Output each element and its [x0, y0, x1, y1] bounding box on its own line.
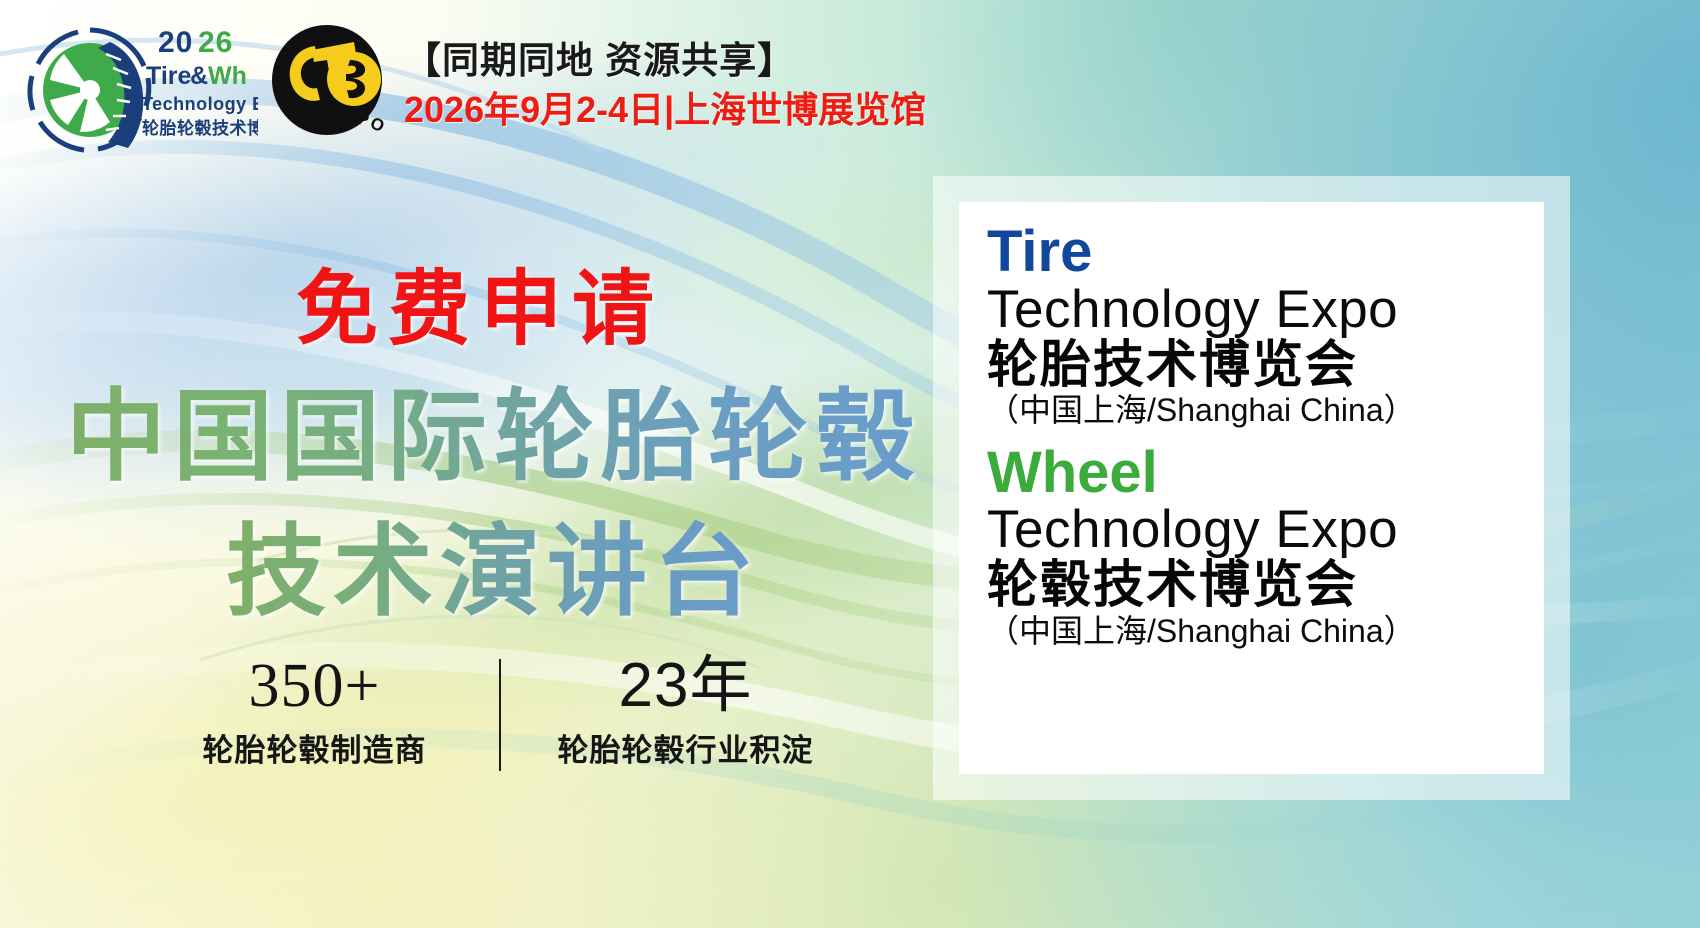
stat-number: 350+: [130, 655, 499, 717]
tire-technology-expo-text: Technology Expo: [987, 283, 1526, 337]
banner-header: 20 26 Tire & Wh Technology Expo 轮胎轮毂技术博览…: [0, 0, 1700, 175]
header-date-venue: 2026年9月2-4日|上海世博展览馆: [404, 88, 926, 131]
svg-text:20: 20: [158, 26, 193, 59]
cte-expo-logo: E X P O: [268, 24, 386, 142]
free-apply-eyebrow: 免费申请: [296, 242, 664, 361]
svg-text:O: O: [367, 113, 386, 136]
statistics-row: 350+ 轮胎轮毂制造商 23年 轮胎轮毂行业积淀: [130, 655, 870, 785]
svg-text:Tire: Tire: [146, 62, 191, 90]
wheel-technology-expo-text: Technology Expo: [987, 503, 1526, 557]
tire-wheel-expo-logo: 20 26 Tire & Wh Technology Expo 轮胎轮毂技术博览…: [18, 18, 258, 163]
wheel-expo-brand-block: Wheel Technology Expo 轮毂技术博览会 （中国上海/Shan…: [987, 445, 1526, 650]
page-title-line-1: 中国国际轮胎轮毂: [66, 355, 922, 500]
svg-text:轮胎轮毂技术博览会: 轮胎轮毂技术博览会: [142, 118, 258, 138]
svg-text:Wh: Wh: [208, 62, 247, 90]
svg-text:&: &: [190, 62, 208, 90]
tire-expo-brand-block: Tire Technology Expo 轮胎技术博览会 （中国上海/Shang…: [987, 224, 1526, 429]
stat-item-years: 23年 轮胎轮毂行业积淀: [501, 655, 870, 770]
header-tagline: 【同期同地 资源共享】: [404, 40, 926, 83]
wheel-expo-chinese-name: 轮毂技术博览会: [987, 558, 1526, 612]
svg-text:Technology Expo: Technology Expo: [142, 94, 258, 114]
svg-text:26: 26: [198, 26, 233, 59]
page-title-line-2: 技术演讲台: [226, 490, 761, 635]
header-text-block: 【同期同地 资源共享】 2026年9月2-4日|上海世博展览馆: [404, 40, 926, 131]
wheel-expo-location: （中国上海/Shanghai China）: [987, 614, 1526, 649]
stat-item-manufacturers: 350+ 轮胎轮毂制造商: [130, 655, 499, 770]
expo-brand-panel-inner: Tire Technology Expo 轮胎技术博览会 （中国上海/Shang…: [959, 202, 1544, 774]
wheel-brand-word: Wheel: [987, 445, 1526, 502]
tire-expo-chinese-name: 轮胎技术博览会: [987, 338, 1526, 392]
stat-label: 轮胎轮毂行业积淀: [501, 725, 870, 770]
tire-expo-location: （中国上海/Shanghai China）: [987, 393, 1526, 428]
stat-label: 轮胎轮毂制造商: [130, 725, 499, 770]
promotional-banner: 20 26 Tire & Wh Technology Expo 轮胎轮毂技术博览…: [0, 0, 1700, 928]
stat-number: 23年: [501, 655, 870, 717]
tire-brand-word: Tire: [987, 224, 1526, 281]
expo-brand-panel: Tire Technology Expo 轮胎技术博览会 （中国上海/Shang…: [933, 176, 1570, 800]
